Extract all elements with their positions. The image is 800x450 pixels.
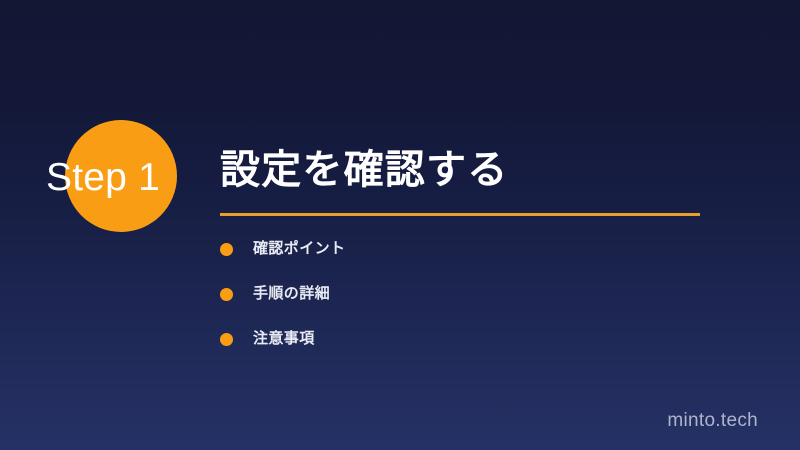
list-item-label: 確認ポイント [253, 241, 345, 257]
watermark-brand: minto.tech [667, 410, 758, 432]
list-item: 確認ポイント [220, 241, 345, 257]
bullet-dot-icon [220, 288, 233, 301]
list-item-label: 手順の詳細 [253, 286, 330, 302]
bullet-list: 確認ポイント 手順の詳細 注意事項 [220, 241, 345, 347]
bullet-dot-icon [220, 243, 233, 256]
list-item-label: 注意事項 [253, 331, 315, 347]
bullet-dot-icon [220, 333, 233, 346]
slide-canvas: Step 1 設定を確認する 確認ポイント 手順の詳細 注意事項 minto.t… [0, 0, 800, 450]
heading-block: 設定を確認する [220, 144, 702, 216]
list-item: 注意事項 [220, 331, 345, 347]
list-item: 手順の詳細 [220, 286, 345, 302]
title-underline-rule [220, 213, 700, 216]
page-title: 設定を確認する [220, 144, 702, 196]
step-badge-label: Step 1 [46, 152, 160, 204]
